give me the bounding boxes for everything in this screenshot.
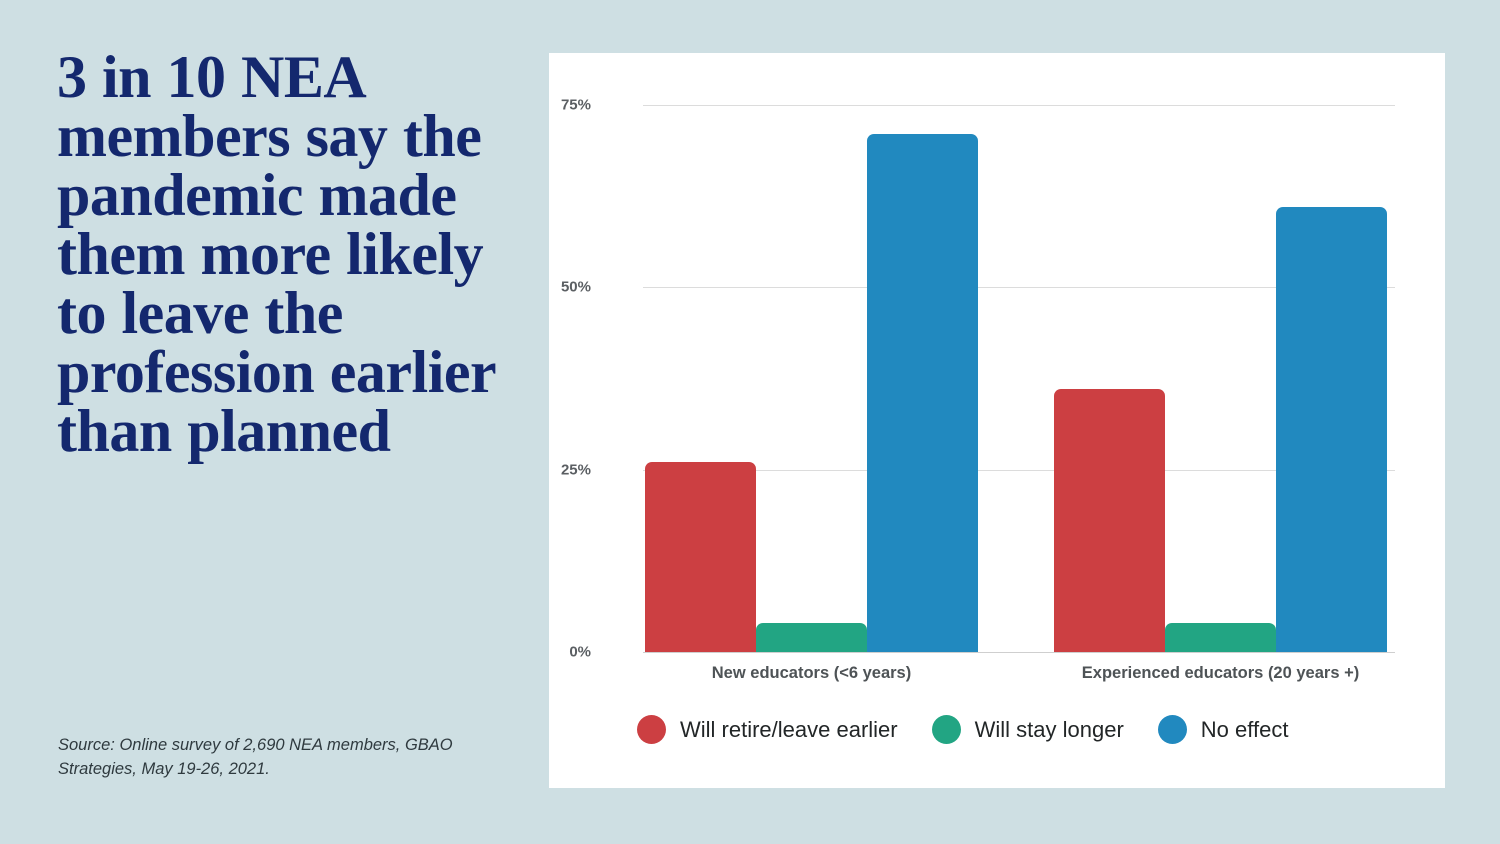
- bar[interactable]: [1276, 207, 1387, 652]
- x-axis-category-label: New educators (<6 years): [712, 664, 911, 683]
- bar[interactable]: [756, 623, 867, 652]
- bar[interactable]: [1165, 623, 1276, 652]
- page-title: 3 in 10 NEA members say the pandemic mad…: [57, 48, 527, 461]
- legend-item[interactable]: No effect: [1158, 715, 1289, 744]
- gridline: [643, 105, 1395, 106]
- axis-baseline: [643, 652, 1395, 653]
- source-note: Source: Online survey of 2,690 NEA membe…: [58, 733, 498, 781]
- chart-legend: Will retire/leave earlierWill stay longe…: [549, 715, 1445, 744]
- legend-item[interactable]: Will retire/leave earlier: [637, 715, 898, 744]
- y-axis-tick-label: 50%: [471, 279, 591, 296]
- y-axis-tick-label: 0%: [471, 644, 591, 661]
- legend-label: Will stay longer: [975, 717, 1124, 743]
- chart-card: 0%25%50%75%New educators (<6 years)Exper…: [549, 53, 1445, 788]
- bar[interactable]: [645, 462, 756, 652]
- bar[interactable]: [1054, 389, 1165, 652]
- left-text-panel: 3 in 10 NEA members say the pandemic mad…: [0, 0, 548, 844]
- bar[interactable]: [867, 134, 978, 652]
- legend-swatch-circle-icon: [637, 715, 666, 744]
- y-axis-tick-label: 75%: [471, 97, 591, 114]
- y-axis-tick-label: 25%: [471, 461, 591, 478]
- legend-item[interactable]: Will stay longer: [932, 715, 1124, 744]
- legend-swatch-circle-icon: [1158, 715, 1187, 744]
- legend-swatch-circle-icon: [932, 715, 961, 744]
- legend-label: Will retire/leave earlier: [680, 717, 898, 743]
- legend-label: No effect: [1201, 717, 1289, 743]
- bar-chart-plot: 0%25%50%75%New educators (<6 years)Exper…: [549, 53, 1445, 788]
- x-axis-category-label: Experienced educators (20 years +): [1082, 664, 1359, 683]
